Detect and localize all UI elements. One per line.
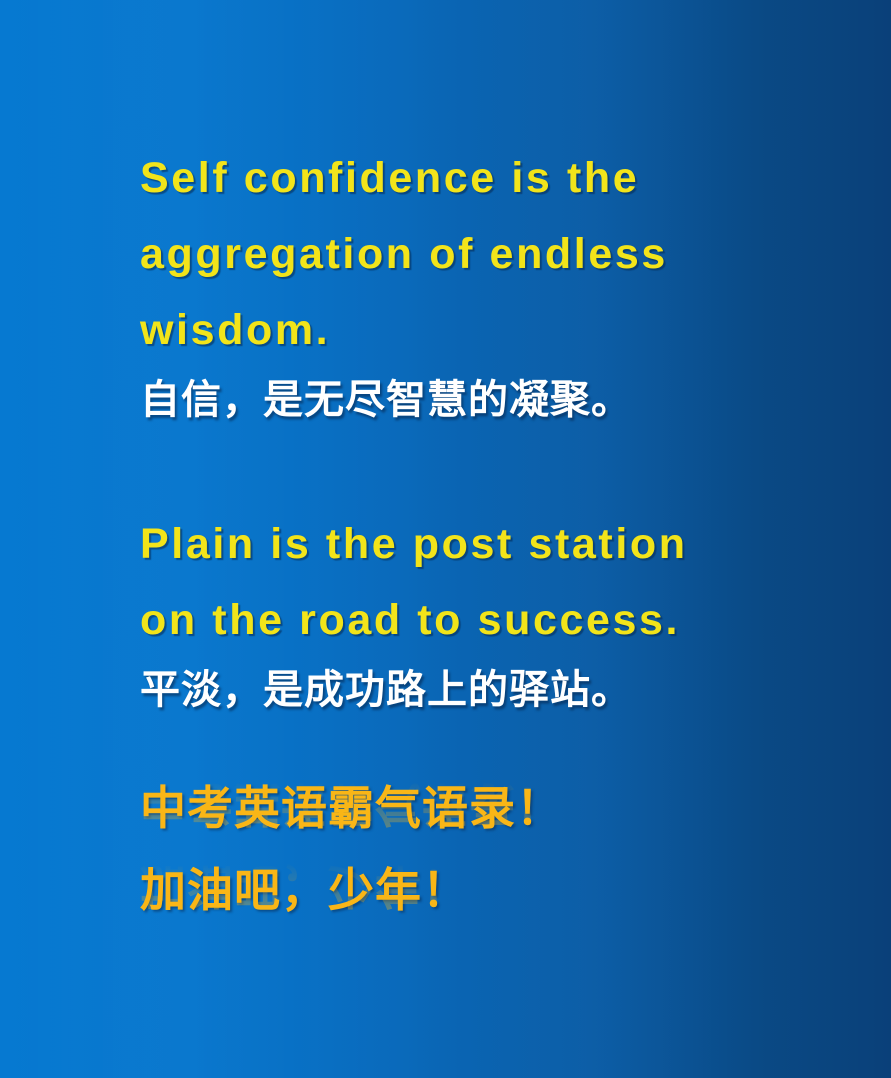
- heading-wrap-2: 加油吧，少年！ 加油吧，少年！: [140, 862, 861, 944]
- quote-1-english-line-2: aggregation of endless: [140, 216, 861, 292]
- quote-1-chinese: 自信，是无尽智慧的凝聚。: [140, 368, 861, 432]
- heading-line-1: 中考英语霸气语录！: [140, 780, 861, 836]
- block-separator-1: [140, 432, 861, 506]
- quote-block-1: Self confidence is the aggregation of en…: [140, 140, 861, 432]
- block-separator-2: [140, 722, 861, 780]
- quote-1-english-line-3: wisdom.: [140, 292, 861, 368]
- heading-wrap-1: 中考英语霸气语录！ 中考英语霸气语录！: [140, 780, 861, 862]
- heading-line-2: 加油吧，少年！: [140, 862, 861, 918]
- quote-2-english-line-2: on the road to success.: [140, 582, 861, 658]
- quote-slide: Self confidence is the aggregation of en…: [0, 0, 891, 1078]
- quote-block-2: Plain is the post station on the road to…: [140, 506, 861, 722]
- quote-2-chinese: 平淡，是成功路上的驿站。: [140, 658, 861, 722]
- quote-1-english-line-1: Self confidence is the: [140, 140, 861, 216]
- slide-content: Self confidence is the aggregation of en…: [140, 140, 861, 944]
- quote-2-english-line-1: Plain is the post station: [140, 506, 861, 582]
